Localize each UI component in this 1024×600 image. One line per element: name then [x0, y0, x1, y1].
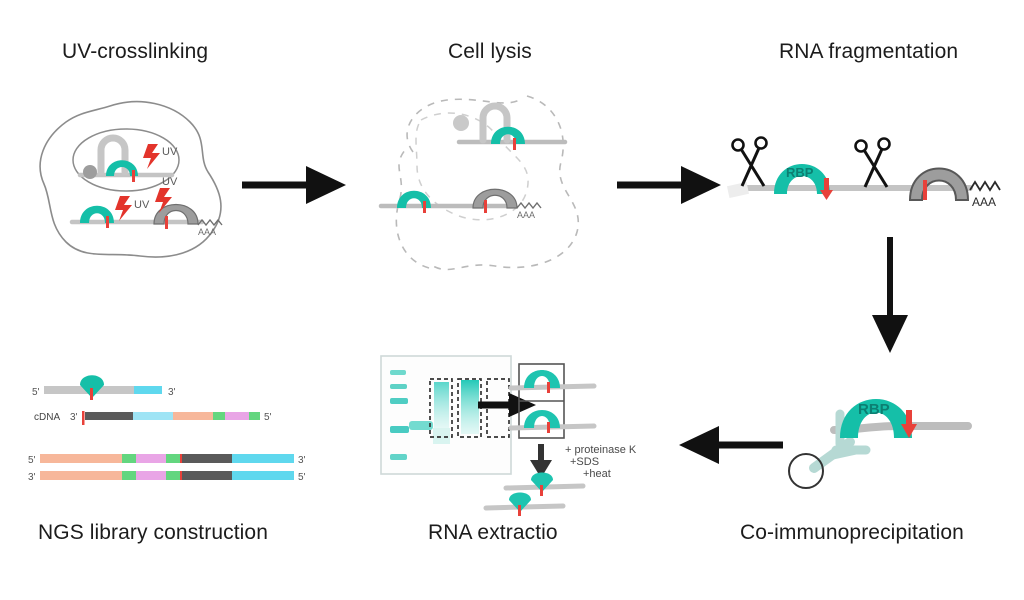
treatment-line: +heat [583, 468, 611, 480]
crosslink-mark-cytoplasm [106, 216, 109, 228]
duplex-segment-pink [136, 471, 166, 480]
duplex-segment-pink [136, 454, 166, 463]
strand-label-5prime: 5' [264, 412, 272, 423]
scissors-icon [733, 138, 767, 187]
treatment-line: +SDS [570, 456, 599, 468]
strand-label-5prime: 5' [28, 455, 36, 466]
cdna-segment-dark [85, 412, 133, 420]
polya-label: AAA [972, 195, 996, 209]
step-label-ngs-library: NGS library construction [38, 521, 268, 545]
crosslink-mark-cdna [82, 411, 85, 425]
crosslink-mark-protein [165, 216, 168, 229]
panel-co-immunoprecipitation: RBP [778, 368, 1018, 503]
arrow-fragment-to-coip [850, 235, 930, 355]
uv-label: UV [162, 146, 178, 158]
crosslink-mark [547, 382, 550, 393]
crosslink-mark [518, 505, 521, 516]
step-label-rna-extraction: RNA extractio [428, 521, 558, 545]
gel-ladder-band [390, 370, 406, 375]
gel-ladder-band [390, 426, 409, 433]
crosslink-mark [547, 422, 550, 433]
strand-label-3prime: 3' [298, 455, 306, 466]
gel-ladder-band [390, 454, 407, 460]
scissors-icon [856, 139, 890, 188]
step-label-cell-lysis: Cell lysis [448, 40, 532, 64]
gel-smear-tail [433, 428, 450, 444]
crosslink-mark [90, 388, 93, 400]
figure-canvas: UV-crosslinking Cell lysis RNA fragmenta… [0, 0, 1024, 600]
crosslink-mark-protein [923, 180, 927, 200]
strand-label-3prime: 3' [168, 387, 176, 398]
polya-tail-squiggle [517, 203, 541, 208]
step-label-rna-fragmentation: RNA fragmentation [779, 40, 958, 64]
gel-smear-lane [434, 382, 449, 434]
treatment-line: + proteinase K [565, 444, 637, 456]
cdna-segment-green [249, 412, 260, 420]
protein-dot-nuclear [83, 165, 97, 179]
arrow-lysis-to-fragment [615, 160, 725, 210]
panel-rna-fragmentation: RBP AAA [720, 130, 1010, 230]
panel-cell-lysis: AAA [355, 90, 605, 280]
protein-dot-free [453, 115, 469, 131]
gel-ladder-band [390, 384, 407, 389]
cdna-label: cDNA [34, 412, 60, 423]
duplex-segment-salmon [40, 471, 122, 480]
step-label-co-immunoprecipitation: Co-immunoprecipitation [740, 521, 964, 545]
cdna-segment-green [213, 412, 225, 420]
rna-stub-left [727, 182, 749, 198]
gel-ladder-band [390, 398, 408, 404]
cdna-segment-cyan [133, 412, 173, 420]
uv-label: UV [162, 176, 178, 188]
panel-rna-extraction: + proteinase K +SDS +heat [378, 352, 663, 512]
duplex-segment-green [166, 471, 180, 480]
duplex-segment-green [166, 454, 180, 463]
duplex-segment-cyan [232, 454, 294, 463]
cdna-segment-salmon [173, 412, 213, 420]
rbp-label: RBP [858, 401, 890, 418]
duplex-segment-dark [182, 471, 232, 480]
duplex-segment-salmon [40, 454, 122, 463]
crosslink-mark [540, 485, 543, 496]
crosslink-mark-nuclear [132, 170, 135, 182]
strand-label-3prime: 3' [70, 412, 78, 423]
uv-bolt-icon [143, 144, 160, 169]
strand-label-5prime: 5' [32, 387, 40, 398]
crosslink-mark-lower [423, 201, 426, 213]
duplex-segment-dark [182, 454, 232, 463]
polya-label: AAA [198, 227, 216, 237]
panel-ngs-library: 5' 3' cDNA 3' 5' 5' [22, 368, 312, 488]
strand-label-5prime: 5' [298, 472, 306, 483]
arrow-coip-to-extraction [670, 420, 785, 470]
polya-label: AAA [517, 210, 535, 220]
step-label-uv-crosslinking: UV-crosslinking [62, 40, 208, 64]
panel-uv-crosslinking: UV UV AAA UV [22, 92, 252, 272]
uv-bolt-icon [115, 196, 132, 221]
polya-tail-squiggle [970, 182, 1000, 190]
cell-membrane-outline [40, 102, 221, 257]
uv-label: UV [134, 199, 150, 211]
strand-label-3prime: 3' [28, 472, 36, 483]
adapter-segment-cyan [134, 386, 162, 394]
duplex-segment-cyan [232, 471, 294, 480]
duplex-segment-green [122, 454, 136, 463]
protein-gray-dome [910, 169, 968, 201]
arrow-uv-to-lysis [240, 160, 350, 210]
gel-smear-lane [461, 380, 479, 434]
cdna-segment-pink [225, 412, 249, 420]
crosslink-mark-upper [513, 138, 516, 150]
duplex-segment-green [122, 471, 136, 480]
crosslink-mark-protein-lower [484, 200, 487, 213]
rbp-label: RBP [786, 165, 814, 180]
